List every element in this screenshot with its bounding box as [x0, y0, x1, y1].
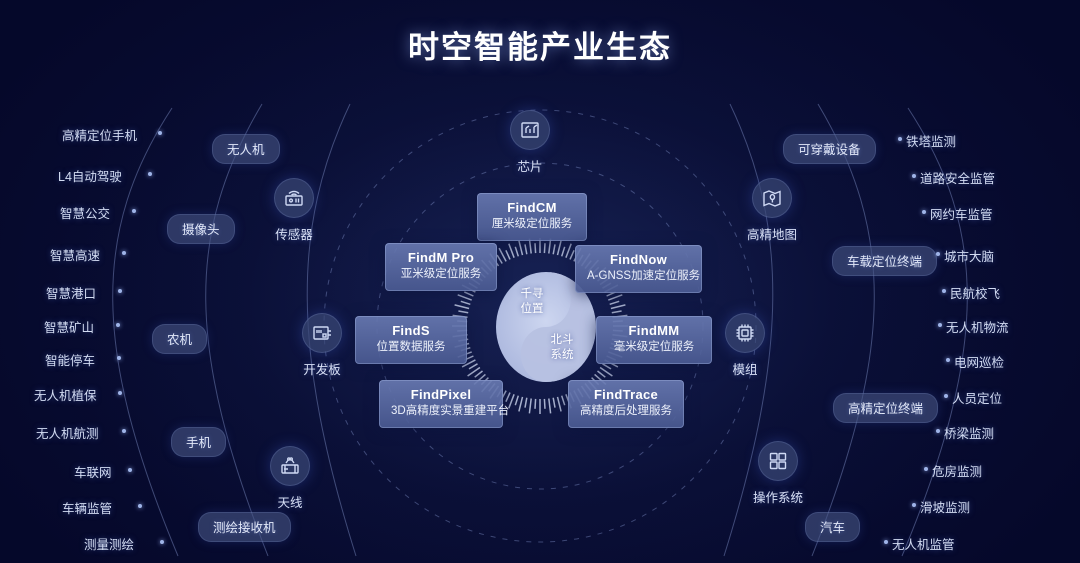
- application-node-dot: [912, 503, 916, 507]
- category-pill-汽车[interactable]: 汽车: [805, 512, 860, 542]
- application-node-dot: [942, 289, 946, 293]
- product-box-findm-pro[interactable]: FindM Pro亚米级定位服务: [385, 243, 497, 291]
- product-description: A-GNSS加速定位服务: [587, 269, 690, 285]
- icon-node-高精地图[interactable]: 高精地图: [724, 178, 820, 243]
- application-label-城市大脑[interactable]: 城市大脑: [944, 246, 994, 265]
- icon-node-label: 天线: [242, 492, 338, 511]
- application-node-dot: [116, 323, 120, 327]
- product-description: 厘米级定位服务: [489, 217, 575, 233]
- product-description: 位置数据服务: [367, 340, 455, 356]
- application-label-L4自动驾驶[interactable]: L4自动驾驶: [58, 166, 122, 185]
- application-label-铁塔监测[interactable]: 铁塔监测: [906, 131, 956, 150]
- icon-node-芯片[interactable]: 芯片: [482, 110, 578, 175]
- application-label-无人机监管[interactable]: 无人机监管: [892, 534, 955, 553]
- icon-node-label: 传感器: [246, 224, 342, 243]
- product-box-findmm[interactable]: FindMM毫米级定位服务: [596, 316, 712, 364]
- category-pill-农机[interactable]: 农机: [152, 324, 207, 354]
- application-label-民航校飞[interactable]: 民航校飞: [950, 283, 1000, 302]
- product-description: 毫米级定位服务: [608, 340, 700, 356]
- application-node-dot: [158, 131, 162, 135]
- application-node-dot: [924, 467, 928, 471]
- product-name: FindTrace: [580, 387, 672, 403]
- icon-node-天线[interactable]: 天线: [242, 446, 338, 511]
- application-node-dot: [912, 174, 916, 178]
- icon-node-模组[interactable]: 模组: [697, 313, 793, 378]
- application-label-高精定位手机[interactable]: 高精定位手机: [62, 125, 137, 144]
- application-node-dot: [936, 252, 940, 256]
- module-chip-icon: [725, 313, 765, 353]
- product-box-findtrace[interactable]: FindTrace高精度后处理服务: [568, 380, 684, 428]
- product-name: FindS: [367, 323, 455, 339]
- application-node-dot: [118, 391, 122, 395]
- application-node-dot: [122, 251, 126, 255]
- application-node-dot: [117, 356, 121, 360]
- product-name: FindM Pro: [397, 250, 485, 266]
- product-box-findpixel[interactable]: FindPixel3D高精度实景重建平台: [379, 380, 503, 428]
- category-pill-手机[interactable]: 手机: [171, 427, 226, 457]
- application-label-道路安全监管[interactable]: 道路安全监管: [920, 168, 995, 187]
- application-label-无人机植保[interactable]: 无人机植保: [34, 385, 97, 404]
- application-node-dot: [122, 429, 126, 433]
- icon-node-label: 芯片: [482, 156, 578, 175]
- application-node-dot: [132, 209, 136, 213]
- application-label-智慧公交[interactable]: 智慧公交: [60, 203, 110, 222]
- application-label-人员定位[interactable]: 人员定位: [952, 388, 1002, 407]
- chip-icon: [510, 110, 550, 150]
- product-description: 亚米级定位服务: [397, 267, 485, 283]
- category-pill-摄像头[interactable]: 摄像头: [167, 214, 235, 244]
- application-label-网约车监管[interactable]: 网约车监管: [930, 204, 993, 223]
- product-name: FindPixel: [391, 387, 491, 403]
- icon-node-传感器[interactable]: 传感器: [246, 178, 342, 243]
- application-node-dot: [938, 323, 942, 327]
- application-label-危房监测[interactable]: 危房监测: [932, 461, 982, 480]
- application-node-dot: [922, 210, 926, 214]
- icon-node-开发板[interactable]: 开发板: [274, 313, 370, 378]
- application-node-dot: [944, 394, 948, 398]
- icon-node-label: 操作系统: [730, 487, 826, 506]
- application-label-无人机航测[interactable]: 无人机航测: [36, 423, 99, 442]
- application-label-智慧高速[interactable]: 智慧高速: [50, 245, 100, 264]
- application-label-车辆监管[interactable]: 车辆监管: [62, 498, 112, 517]
- product-name: FindNow: [587, 252, 690, 268]
- product-description: 3D高精度实景重建平台: [391, 404, 491, 420]
- application-node-dot: [118, 289, 122, 293]
- application-label-测量测绘[interactable]: 测量测绘: [84, 534, 134, 553]
- application-label-电网巡检[interactable]: 电网巡检: [954, 352, 1004, 371]
- application-node-dot: [138, 504, 142, 508]
- category-pill-无人机[interactable]: 无人机: [212, 134, 280, 164]
- product-box-finds[interactable]: FindS位置数据服务: [355, 316, 467, 364]
- application-node-dot: [884, 540, 888, 544]
- icon-node-label: 高精地图: [724, 224, 820, 243]
- application-node-dot: [946, 358, 950, 362]
- application-label-车联网[interactable]: 车联网: [74, 462, 112, 481]
- antenna-icon: [270, 446, 310, 486]
- icon-node-label: 模组: [697, 359, 793, 378]
- application-label-滑坡监测[interactable]: 滑坡监测: [920, 497, 970, 516]
- icon-node-操作系统[interactable]: 操作系统: [730, 441, 826, 506]
- product-description: 高精度后处理服务: [580, 404, 672, 420]
- dev-board-icon: [302, 313, 342, 353]
- application-label-无人机物流[interactable]: 无人机物流: [946, 317, 1009, 336]
- application-node-dot: [936, 429, 940, 433]
- category-pill-高精定位终端[interactable]: 高精定位终端: [833, 393, 938, 423]
- product-name: FindCM: [489, 200, 575, 216]
- application-label-智慧矿山[interactable]: 智慧矿山: [44, 317, 94, 336]
- application-node-dot: [160, 540, 164, 544]
- category-pill-测绘接收机[interactable]: 测绘接收机: [198, 512, 291, 542]
- category-pill-可穿戴设备[interactable]: 可穿戴设备: [783, 134, 876, 164]
- core-label-bottom: 北斗系统: [532, 333, 592, 363]
- application-node-dot: [128, 468, 132, 472]
- icon-node-label: 开发板: [274, 359, 370, 378]
- category-pill-车载定位终端[interactable]: 车载定位终端: [832, 246, 937, 276]
- core-label-top: 千寻位置: [502, 287, 562, 317]
- product-box-findcm[interactable]: FindCM厘米级定位服务: [477, 193, 587, 241]
- map-pin-icon: [752, 178, 792, 218]
- application-node-dot: [148, 172, 152, 176]
- application-label-智能停车[interactable]: 智能停车: [45, 350, 95, 369]
- sensor-icon: [274, 178, 314, 218]
- ecosystem-diagram: 时空智能产业生态 千寻位置 北斗系统 FindCM厘米级定位服务FindM Pr…: [0, 0, 1080, 563]
- product-box-findnow[interactable]: FindNowA-GNSS加速定位服务: [575, 245, 702, 293]
- application-label-智慧港口[interactable]: 智慧港口: [46, 283, 96, 302]
- product-name: FindMM: [608, 323, 700, 339]
- os-grid-icon: [758, 441, 798, 481]
- application-label-桥梁监测[interactable]: 桥梁监测: [944, 423, 994, 442]
- page-title: 时空智能产业生态: [0, 22, 1080, 67]
- application-node-dot: [898, 137, 902, 141]
